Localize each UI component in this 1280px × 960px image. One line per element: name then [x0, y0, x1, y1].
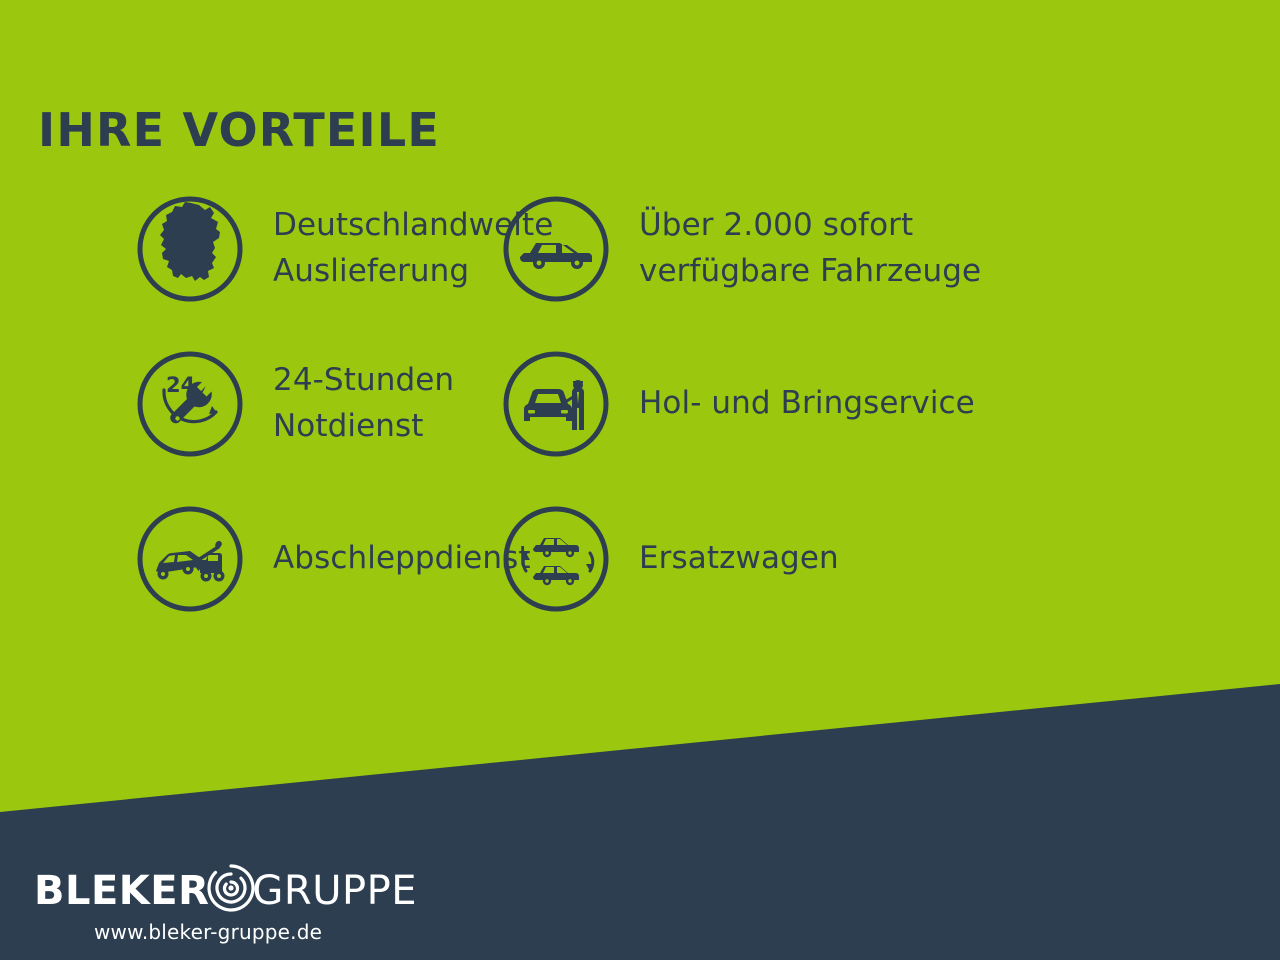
benefit-item-ersatzwagen: Ersatzwagen: [500, 505, 1140, 613]
benefits-row: Abschleppdienst: [0, 505, 1280, 660]
benefit-label: Abschleppdienst: [273, 536, 531, 582]
car-with-driver-icon: [502, 350, 610, 458]
logo-wordmark: BLEKER GRUPPE: [34, 868, 417, 914]
benefit-label: 24-Stunden Notdienst: [273, 358, 454, 450]
slide-canvas: IHRE VORTEILE Deutschlandweite Ausliefer…: [0, 0, 1280, 960]
car-side-icon: [502, 195, 610, 303]
website-url[interactable]: www.bleker-gruppe.de: [94, 920, 417, 944]
benefits-grid: Deutschlandweite Auslieferung: [0, 195, 1280, 660]
benefit-item-deutschlandweite-auslieferung: Deutschlandweite Auslieferung: [0, 195, 500, 303]
benefits-row: Deutschlandweite Auslieferung: [0, 195, 1280, 350]
car-exchange-icon: [502, 505, 610, 613]
benefit-label: Über 2.000 sofort verfügbare Fahrzeuge: [639, 203, 981, 295]
page-title: IHRE VORTEILE: [38, 107, 440, 153]
logo-secondary-text: GRUPPE: [252, 871, 417, 911]
spiral-icon: [205, 862, 257, 914]
benefit-item-abschleppdienst: Abschleppdienst: [0, 505, 500, 613]
24-hour-wrench-icon: 24: [136, 350, 244, 458]
benefit-label: Ersatzwagen: [639, 536, 839, 582]
benefit-label: Hol- und Bringservice: [639, 381, 975, 427]
benefits-row: 24 24-Stunden Notdienst: [0, 350, 1280, 505]
benefit-item-verfuegbare-fahrzeuge: Über 2.000 sofort verfügbare Fahrzeuge: [500, 195, 1140, 303]
benefit-item-24-stunden-notdienst: 24 24-Stunden Notdienst: [0, 350, 500, 458]
tow-truck-icon: [136, 505, 244, 613]
logo-primary-text: BLEKER: [34, 871, 209, 911]
benefit-item-hol-und-bringservice: Hol- und Bringservice: [500, 350, 1140, 458]
germany-map-icon: [136, 195, 244, 303]
company-logo[interactable]: BLEKER GRUPPE www.bleker-gruppe.de: [34, 868, 417, 944]
